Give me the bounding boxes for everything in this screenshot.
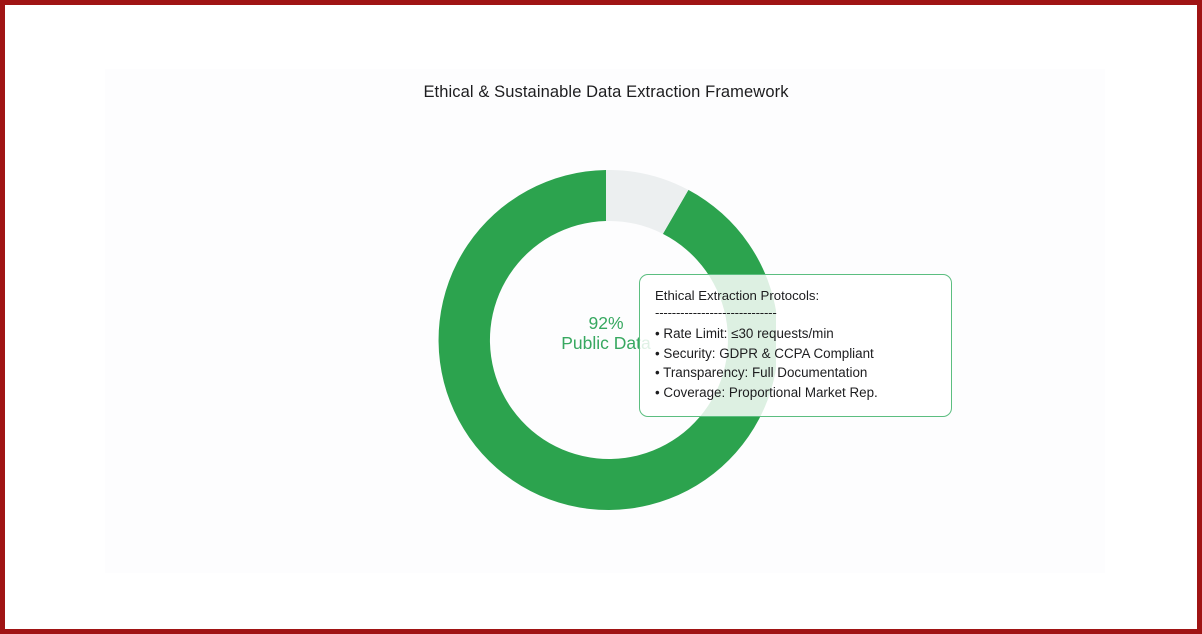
figure-frame: Ethical & Sustainable Data Extraction Fr… bbox=[0, 0, 1202, 634]
list-item: • Transparency: Full Documentation bbox=[655, 363, 936, 383]
annotation-heading: Ethical Extraction Protocols: bbox=[655, 288, 936, 305]
list-item: • Security: GDPR & CCPA Compliant bbox=[655, 344, 936, 364]
annotation-callout[interactable]: Ethical Extraction Protocols: ----------… bbox=[639, 274, 952, 417]
annotation-list: • Rate Limit: ≤30 requests/min • Securit… bbox=[655, 324, 936, 403]
list-item: • Rate Limit: ≤30 requests/min bbox=[655, 324, 936, 344]
list-item: • Coverage: Proportional Market Rep. bbox=[655, 383, 936, 403]
chart-title: Ethical & Sustainable Data Extraction Fr… bbox=[5, 83, 1202, 102]
annotation-divider: ----------------------------- bbox=[655, 306, 936, 320]
